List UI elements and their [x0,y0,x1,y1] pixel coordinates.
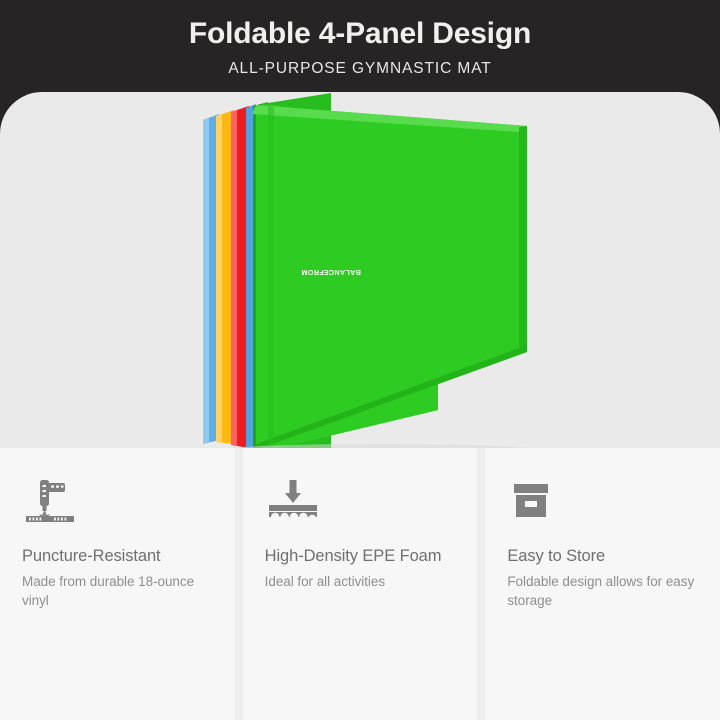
mat-panel-yellow-highlight [216,114,222,443]
page-title: Foldable 4-Panel Design [189,14,531,54]
feature-title: Puncture-Resistant [22,546,213,567]
brand-logo-text: BALANCEFROM [300,268,362,277]
page-subtitle: ALL-PURPOSE GYMNASTIC MAT [228,58,491,80]
feature-description: Foldable design allows for easy storage [507,572,698,610]
feature-title: Easy to Store [507,546,698,567]
product-image-panel: BALANCEFROM [0,92,720,452]
feature-card-puncture-resistant: Puncture-Resistant Made from durable 18-… [0,448,235,720]
foam-compression-icon [265,476,321,524]
product-stage: BALANCEFROM [0,92,720,452]
feature-card-easy-to-store: Easy to Store Foldable design allows for… [485,448,720,720]
feature-title: High-Density EPE Foam [265,546,456,567]
mat-panel-blue-back-highlight [203,118,209,444]
mat-panel-red-highlight [231,110,237,446]
mat-fold-crease [268,106,274,449]
storage-box-icon [507,476,563,524]
feature-cards-row: Puncture-Resistant Made from durable 18-… [0,448,720,720]
feature-card-high-density-foam: High-Density EPE Foam Ideal for all acti… [243,448,478,720]
header-banner: Foldable 4-Panel Design ALL-PURPOSE GYMN… [0,0,720,96]
feature-description: Ideal for all activities [265,572,456,591]
feature-description: Made from durable 18-ounce vinyl [22,572,213,610]
mat-green-right-edge [519,126,527,352]
drill-puncture-icon [22,476,78,524]
